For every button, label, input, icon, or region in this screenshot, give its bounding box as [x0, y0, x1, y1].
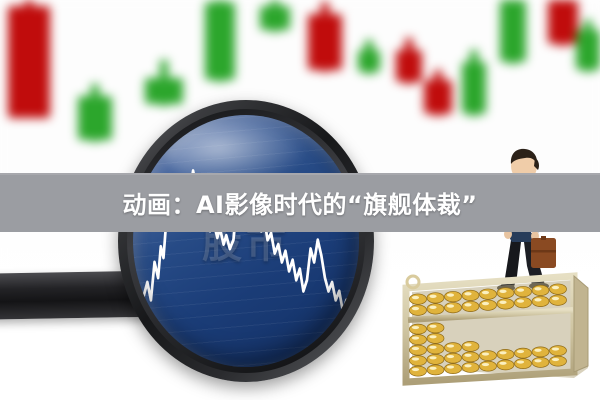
abacus-bead-highlight	[447, 344, 454, 347]
abacus-bead-highlight	[464, 303, 471, 306]
abacus-bead	[515, 348, 532, 358]
abacus-bead	[515, 359, 532, 369]
abacus-bead-highlight	[447, 293, 454, 296]
abacus-bead-highlight	[482, 363, 489, 366]
abacus-bead-highlight	[517, 350, 524, 353]
candle-body	[500, 0, 526, 62]
abacus-bead	[515, 297, 532, 307]
abacus-bead-highlight	[429, 295, 436, 298]
abacus-bead	[532, 347, 549, 357]
abacus-bead-highlight	[517, 299, 524, 302]
abacus-bead	[427, 344, 444, 354]
abacus-bead	[410, 356, 427, 366]
abacus-bead-highlight	[412, 307, 419, 310]
abacus-bead-highlight	[464, 343, 471, 346]
abacus-bead	[497, 288, 514, 298]
abacus-bead	[532, 357, 549, 367]
candle-body	[260, 6, 290, 30]
candle-body	[396, 50, 422, 82]
page-title: 动画：AI影像时代的“旗舰体裁”	[0, 173, 600, 232]
abacus-bead	[550, 295, 567, 305]
abacus-bead-highlight	[499, 362, 506, 365]
cover-image-canvas: 股市	[0, 0, 600, 400]
abacus-bead-highlight	[534, 298, 541, 301]
abacus-bead-highlight	[412, 347, 419, 350]
abacus-bead	[445, 364, 462, 374]
candle-body	[548, 0, 578, 44]
abacus-bead	[480, 351, 497, 361]
abacus-bead-highlight	[499, 351, 506, 354]
abacus-bead-highlight	[482, 352, 489, 355]
candle-body	[462, 62, 486, 114]
candle-body	[205, 2, 235, 80]
abacus-bead-highlight	[534, 287, 541, 290]
abacus-bead	[480, 300, 497, 310]
magnifying-glass: 股市	[118, 100, 374, 382]
abacus-bead	[410, 294, 427, 304]
abacus-bead-highlight	[447, 304, 454, 307]
abacus-bead-highlight	[482, 302, 489, 305]
abacus-bead	[462, 362, 479, 372]
abacus-bead	[410, 345, 427, 355]
abacus-bead	[427, 293, 444, 303]
abacus-bead	[427, 354, 444, 364]
abacus-bead	[410, 366, 427, 376]
abacus-bead-highlight	[429, 346, 436, 349]
candle-body	[78, 96, 112, 140]
abacus-bead-highlight	[552, 297, 559, 300]
abacus-bead-highlight	[429, 325, 436, 328]
abacus-bead	[410, 324, 427, 334]
abacus-bead-highlight	[429, 356, 436, 359]
abacus-bead-highlight	[464, 292, 471, 295]
abacus-bead	[462, 301, 479, 311]
abacus-bead	[550, 346, 567, 356]
abacus-bead	[550, 356, 567, 366]
candle-body	[358, 50, 380, 72]
abacus-bead	[497, 349, 514, 359]
abacus-bead	[532, 285, 549, 295]
abacus-bead	[497, 360, 514, 370]
abacus-bead-highlight	[552, 347, 559, 350]
abacus-bead	[410, 335, 427, 345]
abacus-bead-highlight	[464, 354, 471, 357]
lens-edge-shading	[133, 115, 359, 367]
abacus-bead	[445, 302, 462, 312]
abacus-bead-highlight	[447, 355, 454, 358]
abacus-bead-highlight	[534, 349, 541, 352]
abacus-bead-highlight	[412, 368, 419, 371]
abacus-bead-highlight	[534, 359, 541, 362]
abacus-bead-highlight	[412, 336, 419, 339]
golden-abacus	[398, 268, 594, 390]
candle-body	[8, 6, 50, 118]
abacus-bead	[427, 365, 444, 375]
abacus-bead-highlight	[517, 360, 524, 363]
abacus-bead	[462, 352, 479, 362]
abacus-bead	[497, 299, 514, 309]
abacus-bead	[480, 361, 497, 371]
abacus-bead	[550, 284, 567, 294]
abacus-bead-highlight	[429, 335, 436, 338]
abacus-bead	[445, 343, 462, 353]
abacus-bead-highlight	[429, 306, 436, 309]
abacus-bead-highlight	[464, 364, 471, 367]
abacus-bead-highlight	[482, 291, 489, 294]
candle-body	[308, 14, 342, 70]
abacus-bead-highlight	[412, 296, 419, 299]
abacus-bead	[462, 341, 479, 351]
abacus-bead	[427, 304, 444, 314]
abacus-bead-highlight	[552, 286, 559, 289]
candle-body	[424, 80, 452, 114]
abacus-bead	[410, 305, 427, 315]
abacus-bead-highlight	[552, 358, 559, 361]
abacus-bead-highlight	[412, 326, 419, 329]
abacus-bead-highlight	[517, 288, 524, 291]
abacus-bead	[427, 333, 444, 343]
abacus-bead	[532, 296, 549, 306]
abacus-bead-highlight	[447, 365, 454, 368]
abacus-bead-highlight	[499, 290, 506, 293]
abacus-bead-highlight	[429, 367, 436, 370]
abacus-bead	[480, 289, 497, 299]
abacus-bead-highlight	[499, 301, 506, 304]
abacus-bead	[515, 286, 532, 296]
candle-body	[576, 30, 600, 70]
abacus-bead	[462, 290, 479, 300]
abacus-bead	[427, 323, 444, 333]
abacus-bead	[445, 291, 462, 301]
magnifier-lens: 股市	[133, 115, 359, 367]
abacus-bead	[445, 353, 462, 363]
abacus-bead-highlight	[412, 357, 419, 360]
